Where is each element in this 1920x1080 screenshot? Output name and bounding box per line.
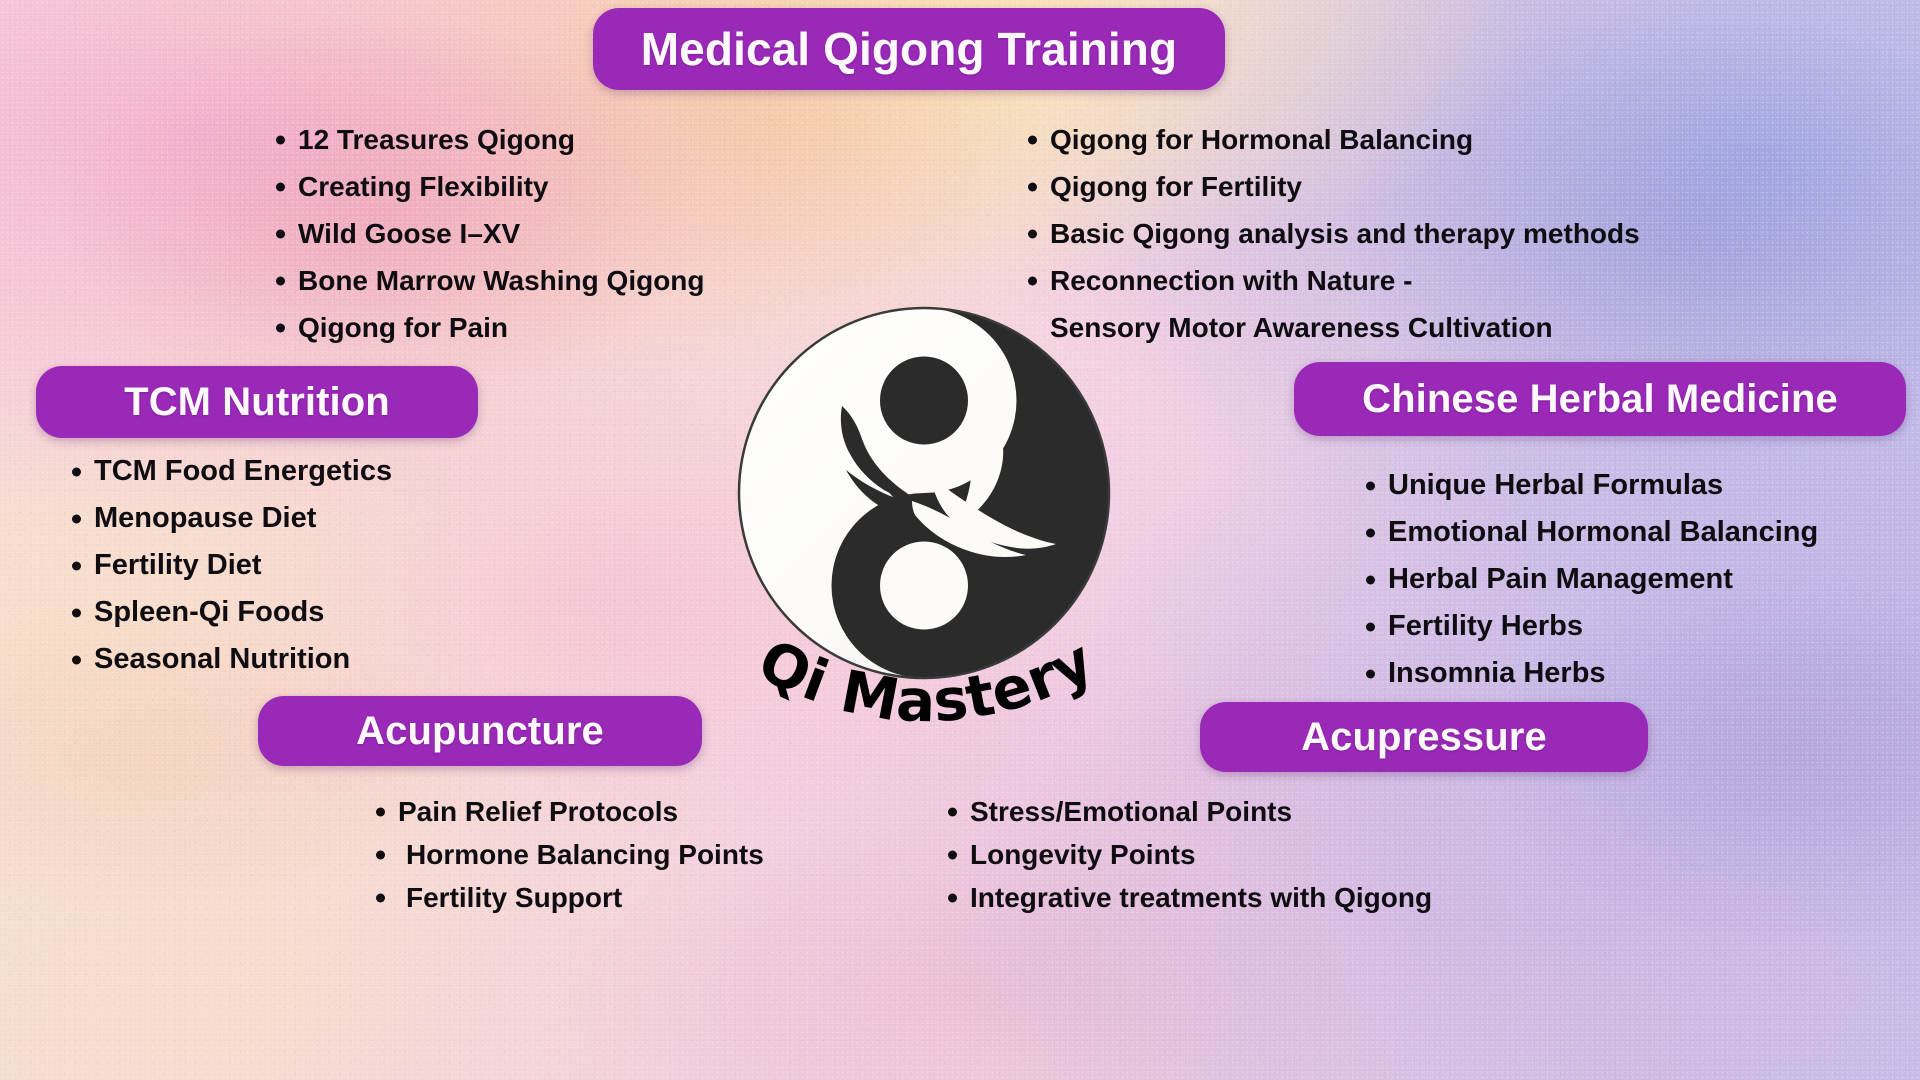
list-item: Qigong for Hormonal Balancing <box>1024 116 1640 163</box>
list-item-label: Integrative treatments with Qigong <box>970 882 1432 913</box>
list-item-label: Insomnia Herbs <box>1388 657 1606 689</box>
list-item: Longevity Points <box>944 833 1432 876</box>
list-item: Hormone Balancing Points <box>372 833 764 876</box>
brand-wordmark: Qi Mastery <box>716 638 1136 788</box>
list-item: Fertility Support <box>372 876 764 919</box>
list-item: Spleen-Qi Foods <box>68 589 392 636</box>
list-item-label: Wild Goose I–XV <box>298 218 520 249</box>
section-title-label: Acupuncture <box>356 709 604 754</box>
list-item: Seasonal Nutrition <box>68 636 392 683</box>
list-item-label: Menopause Diet <box>94 502 316 534</box>
list-item-label: Hormone Balancing Points <box>406 839 764 870</box>
list-item-label: Creating Flexibility <box>298 171 549 202</box>
list-item-label: Spleen-Qi Foods <box>94 596 324 628</box>
list-item: Integrative treatments with Qigong <box>944 876 1432 919</box>
list-item: Insomnia Herbs <box>1362 650 1818 697</box>
list-item-label: Qigong for Pain <box>298 312 508 343</box>
list-item: Menopause Diet <box>68 495 392 542</box>
list-tcm-nutrition: TCM Food Energetics Menopause Diet Ferti… <box>68 448 392 683</box>
list-item: Emotional Hormonal Balancing <box>1362 509 1818 556</box>
section-title-acupressure: Acupressure <box>1200 702 1648 772</box>
section-title-label: Chinese Herbal Medicine <box>1362 377 1838 422</box>
list-item-label: Qigong for Hormonal Balancing <box>1050 124 1473 155</box>
list-item: Qigong for Fertility <box>1024 163 1640 210</box>
yin-yang-crane-logo <box>734 303 1114 683</box>
list-item: Creating Flexibility <box>272 163 705 210</box>
list-item: Qigong for Pain <box>272 304 705 351</box>
list-item: Fertility Diet <box>68 542 392 589</box>
list-item: Stress/Emotional Points <box>944 790 1432 833</box>
list-item-label: Emotional Hormonal Balancing <box>1388 516 1818 548</box>
list-acupuncture: Pain Relief Protocols Hormone Balancing … <box>372 790 764 919</box>
list-item: Herbal Pain Management <box>1362 556 1818 603</box>
section-title-medical-qigong-training: Medical Qigong Training <box>593 8 1225 90</box>
list-item: Bone Marrow Washing Qigong <box>272 257 705 304</box>
brand-wordmark-label: Qi Mastery <box>748 626 1104 735</box>
section-title-label: Acupressure <box>1301 715 1547 760</box>
list-item-label: Reconnection with Nature - <box>1050 265 1412 296</box>
list-item: Pain Relief Protocols <box>372 790 764 833</box>
list-item: Unique Herbal Formulas <box>1362 462 1818 509</box>
list-item-label: Sensory Motor Awareness Cultivation <box>1050 312 1553 343</box>
list-medical-qigong-right: Qigong for Hormonal Balancing Qigong for… <box>1024 116 1640 351</box>
yin-dot <box>880 357 968 445</box>
list-item: Reconnection with Nature - <box>1024 257 1640 304</box>
list-item: TCM Food Energetics <box>68 448 392 495</box>
list-item-label: Bone Marrow Washing Qigong <box>298 265 705 296</box>
section-title-tcm-nutrition: TCM Nutrition <box>36 366 478 438</box>
section-title-label: TCM Nutrition <box>124 380 390 425</box>
list-item-label: Basic Qigong analysis and therapy method… <box>1050 218 1640 249</box>
list-item: Basic Qigong analysis and therapy method… <box>1024 210 1640 257</box>
list-item-label: Unique Herbal Formulas <box>1388 469 1723 501</box>
list-item-label: Stress/Emotional Points <box>970 796 1292 827</box>
list-item-continuation: Sensory Motor Awareness Cultivation <box>1024 304 1640 351</box>
section-title-label: Medical Qigong Training <box>641 22 1177 76</box>
list-item-label: 12 Treasures Qigong <box>298 124 575 155</box>
list-item-label: Pain Relief Protocols <box>398 796 678 827</box>
list-item-label: Qigong for Fertility <box>1050 171 1302 202</box>
list-item-label: Longevity Points <box>970 839 1196 870</box>
brand-wordmark-curved-text: Qi Mastery <box>716 638 1136 788</box>
list-chinese-herbal-medicine: Unique Herbal Formulas Emotional Hormona… <box>1362 462 1818 697</box>
list-item: 12 Treasures Qigong <box>272 116 705 163</box>
infographic-poster: Medical Qigong Training 12 Treasures Qig… <box>0 0 1920 1080</box>
list-item: Fertility Herbs <box>1362 603 1818 650</box>
list-item-label: TCM Food Energetics <box>94 455 392 487</box>
section-title-chinese-herbal-medicine: Chinese Herbal Medicine <box>1294 362 1906 436</box>
section-title-acupuncture: Acupuncture <box>258 696 702 766</box>
list-item: Wild Goose I–XV <box>272 210 705 257</box>
list-item-label: Herbal Pain Management <box>1388 563 1733 595</box>
yin-yang-crane-icon <box>734 303 1114 683</box>
list-item-label: Fertility Support <box>406 882 622 913</box>
list-item-label: Seasonal Nutrition <box>94 643 350 675</box>
yang-dot <box>880 542 968 630</box>
list-item-label: Fertility Diet <box>94 549 262 581</box>
list-medical-qigong-left: 12 Treasures Qigong Creating Flexibility… <box>272 116 705 351</box>
list-item-label: Fertility Herbs <box>1388 610 1583 642</box>
list-acupressure: Stress/Emotional Points Longevity Points… <box>944 790 1432 919</box>
